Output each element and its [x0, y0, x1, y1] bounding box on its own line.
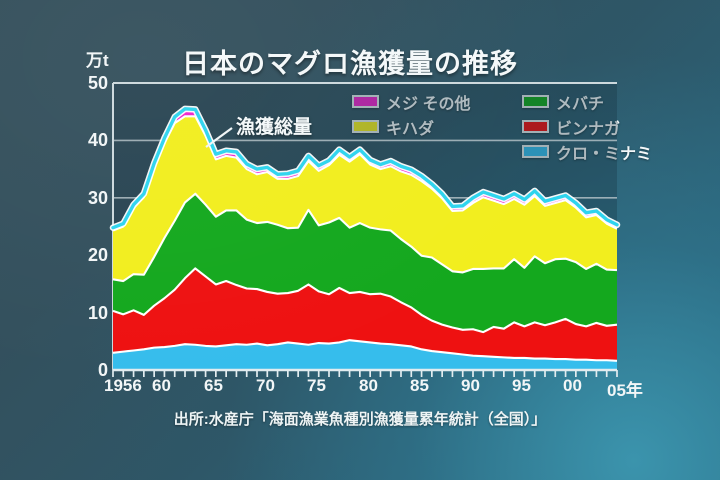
source-caption: 出所:水産庁「海面漁業魚種別漁獲量累年統計（全国）」 [0, 408, 720, 429]
x-tick-75: 75 [307, 376, 326, 396]
total-catch-annotation: 漁獲総量 [236, 112, 312, 139]
x-tick-00: 00 [563, 376, 582, 396]
x-tick-80: 80 [359, 376, 378, 396]
x-tick-1956: 1956 [104, 376, 142, 396]
x-axis-labels: 1956 60 65 70 75 80 85 90 95 00 05年 [0, 376, 720, 400]
x-tick-65: 65 [204, 376, 223, 396]
x-tick-05: 05年 [607, 376, 643, 401]
x-tick-90: 90 [461, 376, 480, 396]
x-tick-95: 95 [512, 376, 531, 396]
x-tick-70: 70 [256, 376, 275, 396]
x-tick-85: 85 [410, 376, 429, 396]
chart-canvas: 万t 日本のマグロ漁獲量の推移 メジ その他 キハダ メバチ ビンナガ [0, 0, 720, 480]
x-tick-60: 60 [152, 376, 171, 396]
